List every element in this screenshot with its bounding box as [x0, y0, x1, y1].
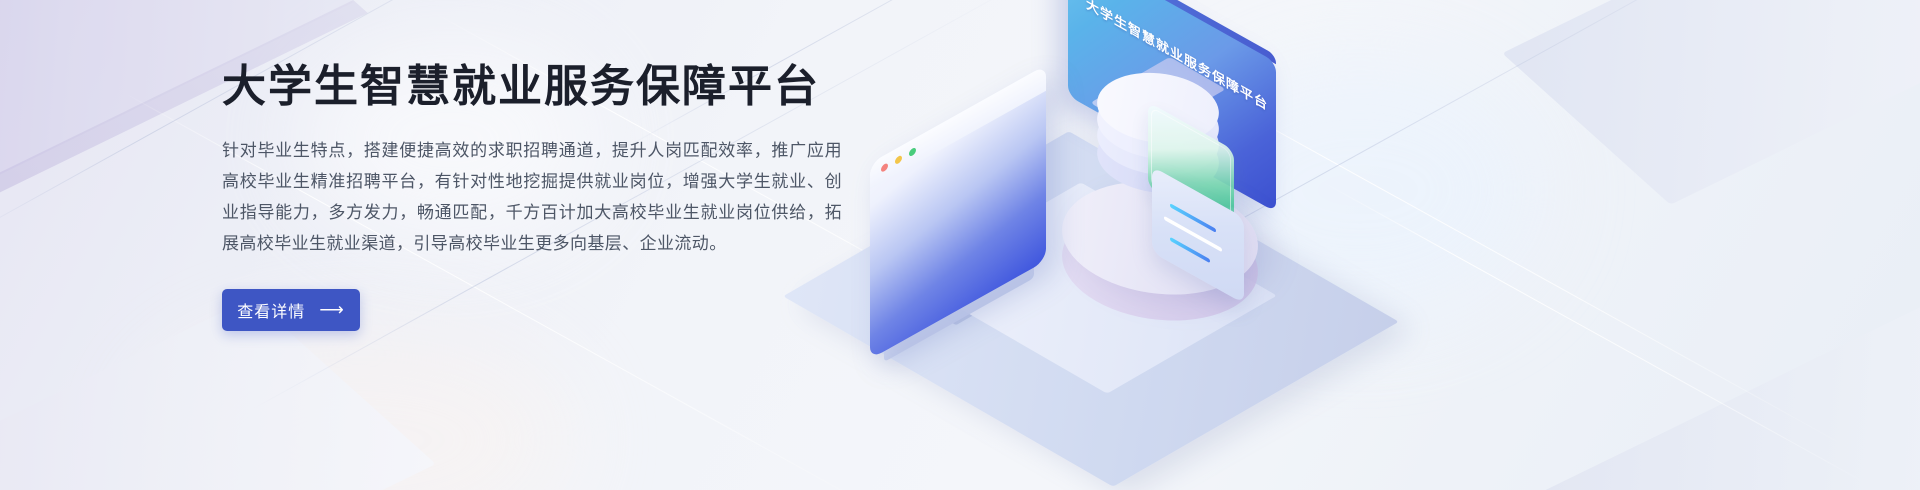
page-title: 大学生智慧就业服务保障平台 [222, 62, 882, 113]
close-icon [881, 162, 888, 173]
iso-plate-top-right [1502, 0, 1920, 205]
view-details-button[interactable]: 查看详情 ⟶ [222, 289, 360, 331]
maximize-icon [909, 147, 916, 158]
iso-plate-bottom-right [1421, 279, 1920, 490]
hero-banner: 大学生智慧就业服务保障平台 针对毕业生特点，搭建便捷高效的求职招聘通道，提升人岗… [0, 0, 1920, 490]
arrow-right-icon: ⟶ [319, 301, 344, 318]
view-details-label: 查看详情 [237, 298, 305, 322]
glow-bottom [150, 330, 570, 490]
hero-illustration: 大学生智慧就业服务保障平台 [890, 0, 1410, 324]
minimize-icon [895, 154, 902, 165]
browser-titlebar [870, 65, 1046, 190]
hero-description: 针对毕业生特点，搭建便捷高效的求职招聘通道，提升人岗匹配效率，推广应用高校毕业生… [222, 135, 842, 259]
hero-content: 大学生智慧就业服务保障平台 针对毕业生特点，搭建便捷高效的求职招聘通道，提升人岗… [222, 62, 882, 331]
